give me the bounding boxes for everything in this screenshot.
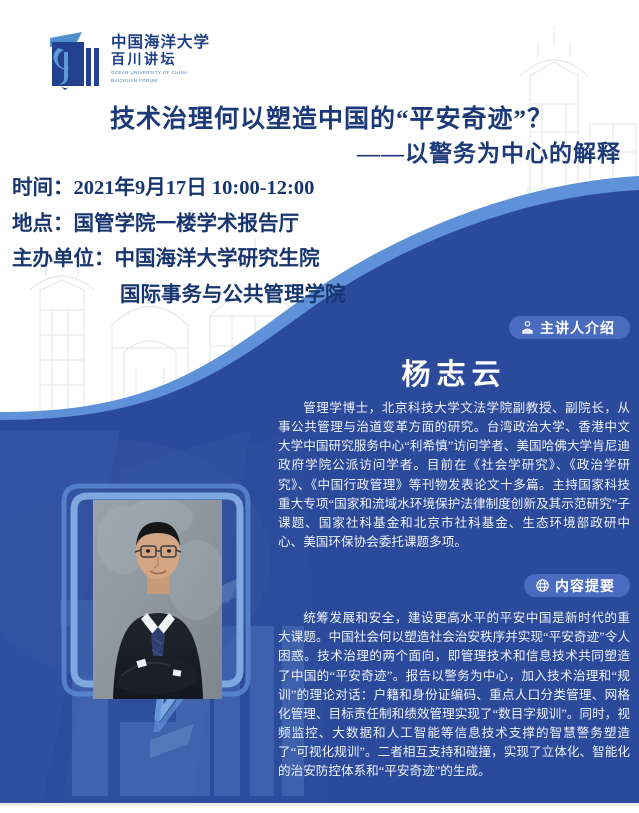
event-place: 地点：国管学院一楼学术报告厅 [12,214,482,235]
abstract-badge-label: 内容提要 [555,579,615,593]
logo-text: 中国海洋大学 百川讲坛 OCEAN UNIVERSITY OF CHINA BA… [111,34,210,84]
logo-en-line2: BAICHUAN FORUM [111,78,210,84]
poster-canvas: 中国海洋大学 百川讲坛 OCEAN UNIVERSITY OF CHINA BA… [0,0,639,813]
event-info-block: 时间：2021年9月17日 10:00-12:00 地点：国管学院一楼学术报告厅… [12,178,482,320]
speaker-intro-badge: 主讲人介绍 [509,316,630,339]
event-time: 时间：2021年9月17日 10:00-12:00 [12,178,482,199]
speaker-portrait-photo [93,500,222,699]
speaker-photo-bubble [58,480,256,732]
abstract-badge: 内容提要 [524,574,630,597]
speaker-intro-badge-label: 主讲人介绍 [540,321,615,335]
logo-cn-line2: 百川讲坛 [111,52,210,70]
speaker-person-icon [520,320,535,335]
poster-subtitle: ——以警务为中心的解释 [0,139,639,169]
event-host-continued: 国际事务与公共管理学院 [12,285,482,306]
logo-cn-line1: 中国海洋大学 [111,34,210,52]
university-logo: 中国海洋大学 百川讲坛 OCEAN UNIVERSITY OF CHINA BA… [36,28,210,90]
logo-en-line1: OCEAN UNIVERSITY OF CHINA [111,70,210,76]
title-block: 技术治理何以塑造中国的“平安奇迹”？ ——以警务为中心的解释 [0,104,639,169]
speaker-name: 杨志云 [278,339,630,399]
right-content-column: 主讲人介绍 杨志云 管理学博士，北京科技大学文法学院副教授、副院长，从事公共管理… [278,316,630,781]
event-host: 主办单位：中国海洋大学研究生院 [12,249,482,270]
abstract-text: 统筹发展和安全，建设更高水平的平安中国是新时代的重大课题。中国社会何以塑造社会治… [278,609,630,781]
poster-title: 技术治理何以塑造中国的“平安奇迹”？ [0,104,639,135]
globe-icon [535,578,550,593]
portrait-illustration [93,500,222,699]
baichuan-forum-logo-icon [36,28,102,90]
speaker-bio: 管理学博士，北京科技大学文法学院副教授、副院长，从事公共管理与治道变革方面的研究… [278,399,630,552]
